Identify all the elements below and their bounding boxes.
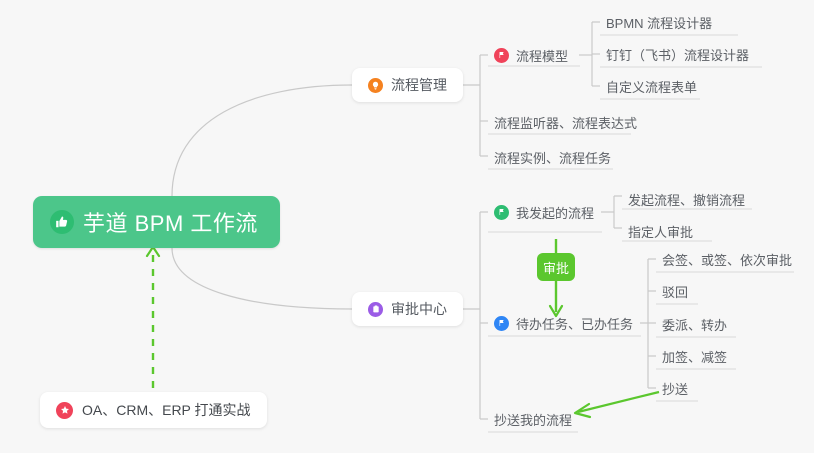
flag-icon — [494, 48, 509, 63]
node-label-assignee-approval: 指定人审批 — [628, 222, 693, 241]
node-bpmn-designer[interactable]: BPMN 流程设计器 — [600, 9, 716, 35]
node-label-todo-done-tasks: 待办任务、已办任务 — [516, 314, 633, 333]
branch-label-process-management: 流程管理 — [391, 75, 447, 95]
node-label-delegate-transfer: 委派、转办 — [662, 315, 727, 334]
node-cc-to-me[interactable]: 抄送我的流程 — [488, 406, 576, 432]
branch-node-approval-center[interactable]: 审批中心 — [352, 292, 463, 326]
root-node[interactable]: 芋道 BPM 工作流 — [33, 196, 280, 248]
node-label-process-instance: 流程实例、流程任务 — [494, 148, 611, 167]
node-process-listener[interactable]: 流程监听器、流程表达式 — [488, 109, 641, 135]
flag-icon — [494, 316, 509, 331]
node-label-cc: 抄送 — [662, 379, 688, 398]
callout-arrow — [147, 247, 159, 388]
node-todo-done-tasks[interactable]: 待办任务、已办任务 — [488, 310, 637, 336]
node-label-reject: 驳回 — [662, 282, 688, 301]
node-reject[interactable]: 驳回 — [656, 278, 692, 304]
node-process-model[interactable]: 流程模型 — [488, 42, 572, 68]
node-custom-form[interactable]: 自定义流程表单 — [600, 73, 701, 99]
node-label-add-remove-sign: 加签、减签 — [662, 347, 727, 366]
node-add-remove-sign[interactable]: 加签、减签 — [656, 343, 731, 369]
node-label-custom-form: 自定义流程表单 — [606, 77, 697, 96]
clipboard-icon — [368, 302, 383, 317]
lightbulb-icon — [368, 78, 383, 93]
node-label-bpmn-designer: BPMN 流程设计器 — [606, 13, 712, 32]
thumbs-up-icon — [50, 210, 74, 234]
link-root-to-approval-center — [172, 248, 352, 309]
node-label-countersign: 会签、或签、依次审批 — [662, 250, 792, 269]
callout-card[interactable]: OA、CRM、ERP 打通实战 — [40, 392, 267, 428]
node-delegate-transfer[interactable]: 委派、转办 — [656, 311, 731, 337]
node-label-cc-to-me: 抄送我的流程 — [494, 410, 572, 429]
approval-tag[interactable]: 审批 — [537, 253, 575, 281]
node-label-my-initiated: 我发起的流程 — [516, 203, 594, 222]
node-assignee-approval[interactable]: 指定人审批 — [622, 218, 697, 244]
node-cc[interactable]: 抄送 — [656, 375, 692, 401]
node-countersign[interactable]: 会签、或签、依次审批 — [656, 246, 796, 272]
node-label-process-model: 流程模型 — [516, 46, 568, 65]
star-icon — [56, 402, 73, 419]
branch-node-process-management[interactable]: 流程管理 — [352, 68, 463, 102]
node-initiate-cancel[interactable]: 发起流程、撤销流程 — [622, 186, 749, 212]
callout-label: OA、CRM、ERP 打通实战 — [82, 400, 251, 420]
node-process-instance[interactable]: 流程实例、流程任务 — [488, 144, 615, 170]
mindmap-canvas: 芋道 BPM 工作流 流程管理 流程模型 流程监听器、流程表达式 流程实例、流程… — [0, 0, 814, 453]
cc-flow-arrow — [575, 392, 659, 417]
branch-label-approval-center: 审批中心 — [391, 299, 447, 319]
node-dingtalk-designer[interactable]: 钉钉（飞书）流程设计器 — [600, 41, 753, 67]
node-label-dingtalk-designer: 钉钉（飞书）流程设计器 — [606, 45, 749, 64]
root-label: 芋道 BPM 工作流 — [83, 206, 258, 238]
node-my-initiated[interactable]: 我发起的流程 — [488, 199, 598, 225]
node-label-process-listener: 流程监听器、流程表达式 — [494, 113, 637, 132]
link-root-to-process-management — [172, 85, 352, 196]
approval-tag-label: 审批 — [543, 258, 569, 277]
node-label-initiate-cancel: 发起流程、撤销流程 — [628, 190, 745, 209]
flag-icon — [494, 205, 509, 220]
